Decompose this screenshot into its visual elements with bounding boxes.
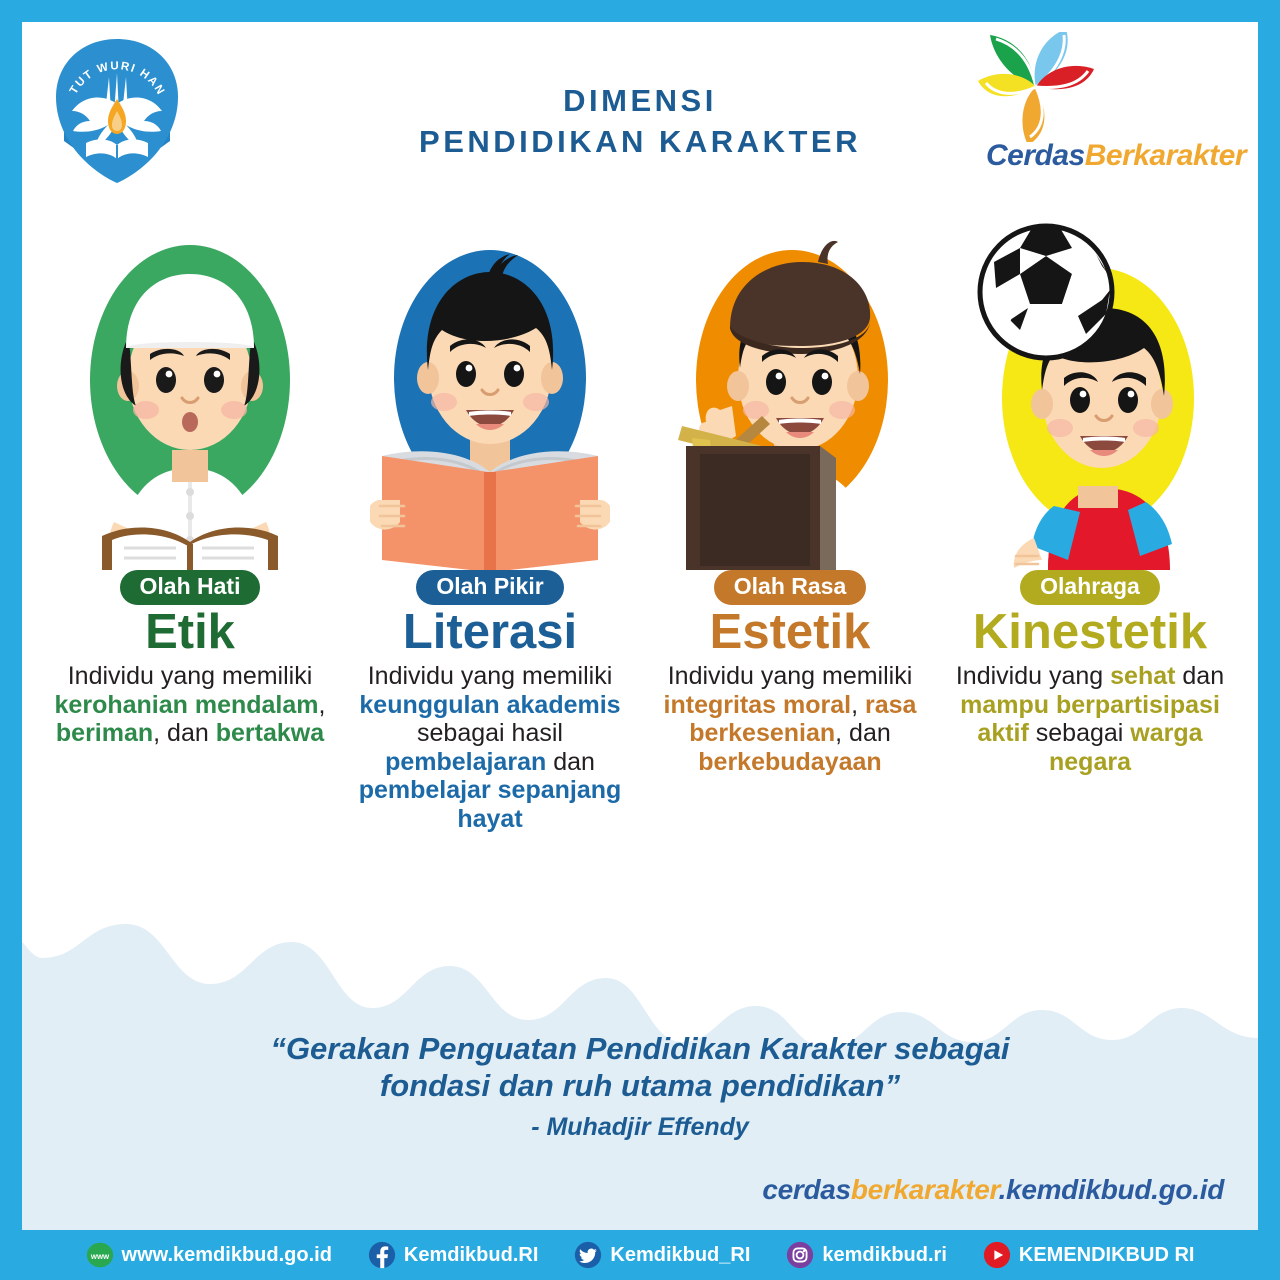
social-link-twitter[interactable]: Kemdikbud_RI (574, 1241, 750, 1269)
illustration-boy-painter-with-easel (640, 200, 940, 570)
dimension-desc-etik: Individu yang memiliki kerohanian mendal… (40, 662, 340, 748)
badge-olah-hati: Olah Hati (120, 570, 261, 605)
social-label-twitter: Kemdikbud_RI (610, 1244, 750, 1267)
social-footer-bar: www www.kemdikbud.go.id Kemdikbud.RI Kem… (0, 1230, 1280, 1280)
dimension-desc-estetik: Individu yang memiliki integritas moral,… (640, 662, 940, 776)
cloud-divider: “Gerakan Penguatan Pendidikan Karakter s… (22, 912, 1258, 1230)
cerdas-berkarakter-logo: CerdasBerkarakter (976, 32, 1246, 177)
dimension-desc-literasi: Individu yang memiliki keunggulan akadem… (340, 662, 640, 833)
youtube-icon (983, 1241, 1011, 1269)
site-url-part-domain: .kemdikbud.go.id (999, 1174, 1224, 1205)
easel (678, 426, 836, 570)
soccer-ball (980, 226, 1112, 358)
dimension-title-kinestetik: Kinestetik (940, 608, 1240, 658)
social-link-facebook[interactable]: Kemdikbud.RI (368, 1241, 538, 1269)
illustration-boy-reading-book (340, 200, 640, 570)
social-label-youtube: KEMENDIKBUD RI (1019, 1244, 1195, 1267)
site-url-part-berkarakter: berkarakter (851, 1174, 999, 1205)
dimension-card-literasi: Olah Pikir Literasi Individu yang memili… (340, 200, 640, 833)
www-globe-icon: www (86, 1241, 114, 1269)
quote-line-2: fondasi dan ruh utama pendidikan” (380, 1068, 900, 1103)
dimension-card-estetik: Olah Rasa Estetik Individu yang memiliki… (640, 200, 940, 833)
social-label-website: www.kemdikbud.go.id (122, 1244, 332, 1267)
badge-olahraga: Olahraga (1020, 570, 1160, 605)
brand-wordmark: CerdasBerkarakter (986, 139, 1246, 173)
social-label-instagram: kemdikbud.ri (822, 1244, 946, 1267)
dimension-columns: Olah Hati Etik Individu yang memiliki ke… (22, 200, 1258, 833)
dimension-card-etik: Olah Hati Etik Individu yang memiliki ke… (40, 200, 340, 833)
social-link-website[interactable]: www www.kemdikbud.go.id (86, 1241, 332, 1269)
site-url-part-cerdas: cerdas (762, 1174, 851, 1205)
quote-block: “Gerakan Penguatan Pendidikan Karakter s… (22, 1030, 1258, 1142)
dimension-desc-kinestetik: Individu yang sehat dan mampu berpartisi… (940, 662, 1240, 776)
dimension-title-etik: Etik (40, 608, 340, 658)
dimension-title-estetik: Estetik (640, 608, 940, 658)
svg-text:www: www (89, 1252, 109, 1261)
quote-attribution: - Muhadjir Effendy (22, 1112, 1258, 1142)
facebook-icon (368, 1241, 396, 1269)
badge-olah-rasa: Olah Rasa (714, 570, 867, 605)
quote-line-1: “Gerakan Penguatan Pendidikan Karakter s… (270, 1031, 1009, 1066)
poster-canvas: TUT WURI HANDAYANI DI (22, 22, 1258, 1230)
dimension-title-literasi: Literasi (340, 608, 640, 658)
twitter-icon (574, 1241, 602, 1269)
instagram-icon (786, 1241, 814, 1269)
illustration-boy-with-soccer-ball (940, 200, 1240, 570)
social-link-instagram[interactable]: kemdikbud.ri (786, 1241, 946, 1269)
brand-word-cerdas: Cerdas (986, 139, 1085, 172)
site-url[interactable]: cerdasberkarakter.kemdikbud.go.id (762, 1174, 1224, 1206)
social-label-facebook: Kemdikbud.RI (404, 1244, 538, 1267)
illustration-boy-with-quran (40, 200, 340, 570)
pinwheel-petal-orange (1022, 87, 1044, 142)
social-link-youtube[interactable]: KEMENDIKBUD RI (983, 1241, 1195, 1269)
poster-header: TUT WURI HANDAYANI DI (22, 22, 1258, 200)
badge-olah-pikir: Olah Pikir (416, 570, 563, 605)
dimension-card-kinestetik: Olahraga Kinestetik Individu yang sehat … (940, 200, 1240, 833)
brand-word-berkarakter: Berkarakter (1085, 139, 1246, 172)
